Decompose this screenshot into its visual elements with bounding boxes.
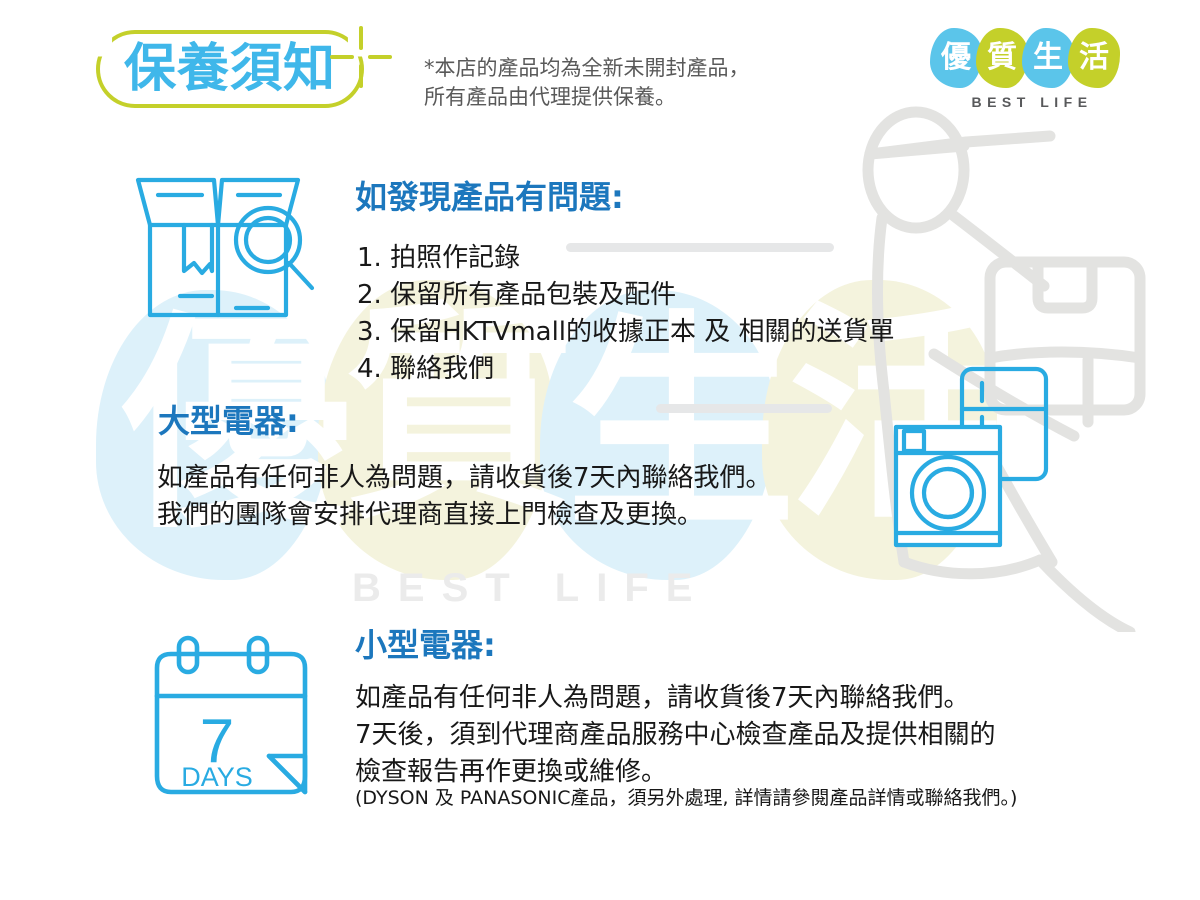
problem-steps-list: 1. 拍照作記錄 2. 保留所有產品包裝及配件 3. 保留HKTVmall的收據… [357,240,895,388]
logo-char-2: 質 [976,28,1028,88]
section-heading-small-appliance: 小型電器: [355,628,496,663]
divider-line-2 [656,404,832,413]
open-box-with-magnifier-icon [128,168,318,323]
watermark-bestlife-text: BEST LIFE [352,566,842,611]
small-appliance-fineprint: (DYSON 及 PANASONIC產品，須另外處理, 詳情請參閱產品詳情或聯絡… [355,786,1017,811]
logo-char-3: 生 [1022,28,1074,88]
calendar-7-days-icon: 7 DAYS [145,634,317,806]
page-title-badge: 保養須知 [96,30,364,108]
calendar-unit-label: DAYS [181,762,253,792]
small-appliance-body: 如產品有任何非人為問題，請收貨後7天內聯絡我們。 7天後，須到代理商產品服務中心… [355,680,996,791]
sparkle-plus-icon [330,26,392,88]
logo-subtitle: BEST LIFE [944,94,1120,110]
divider-line-1 [566,243,834,252]
infographic-page: 優 質 生 活 BEST LIFE [0,0,1200,900]
logo-blob-group: 優 質 生 活 [930,28,1120,90]
section-heading-problem: 如發現產品有問題: [355,180,624,215]
logo-char-1: 優 [930,28,982,88]
section-heading-large-appliance: 大型電器: [158,404,299,439]
brand-logo: 優 質 生 活 BEST LIFE [930,28,1130,120]
logo-char-4: 活 [1068,28,1120,88]
large-appliance-body: 如產品有任何非人為問題，請收貨後7天內聯絡我們。 我們的團隊會安排代理商直接上門… [157,460,772,534]
washing-machine-refrigerator-icon [890,365,1070,560]
header-note: *本店的產品均為全新未開封產品， 所有產品由代理提供保養。 [424,54,750,111]
page-title: 保養須知 [96,43,364,95]
